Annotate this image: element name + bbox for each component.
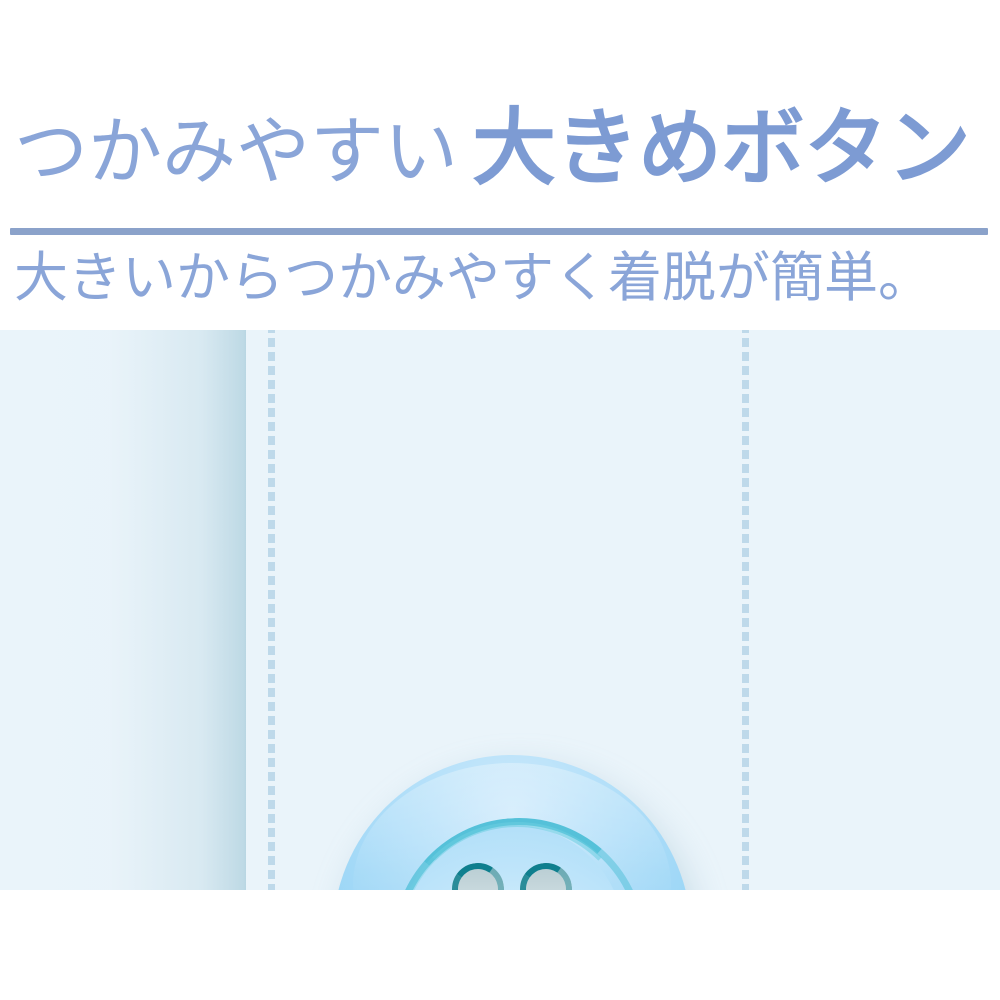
garment-button (333, 755, 691, 890)
product-feature-banner: つかみやすい大きめボタン 大きいからつかみやすく着脱が簡単。 (0, 0, 1000, 1000)
button-hole-shadow-top-right (516, 859, 576, 890)
thread-column-left (452, 863, 504, 890)
headline-strong-part: 大きめボタン (472, 101, 970, 195)
thread-column-right (520, 863, 572, 890)
header-section: つかみやすい大きめボタン 大きいからつかみやすく着脱が簡単。 (0, 0, 1000, 330)
headline-light-part: つかみやすい (14, 110, 458, 193)
subheadline: 大きいからつかみやすく着脱が簡単。 (14, 247, 932, 309)
title-divider (10, 228, 988, 235)
fabric-fold-shading (0, 330, 246, 890)
footer-whitespace (0, 890, 1000, 1000)
stitch-line-left (268, 330, 275, 890)
product-photo (0, 330, 1000, 890)
button-thread-cluster (452, 863, 572, 890)
stitch-line-right (742, 330, 749, 890)
button-hole-shadow-top-left (448, 859, 508, 890)
page-title: つかみやすい大きめボタン (14, 106, 994, 190)
